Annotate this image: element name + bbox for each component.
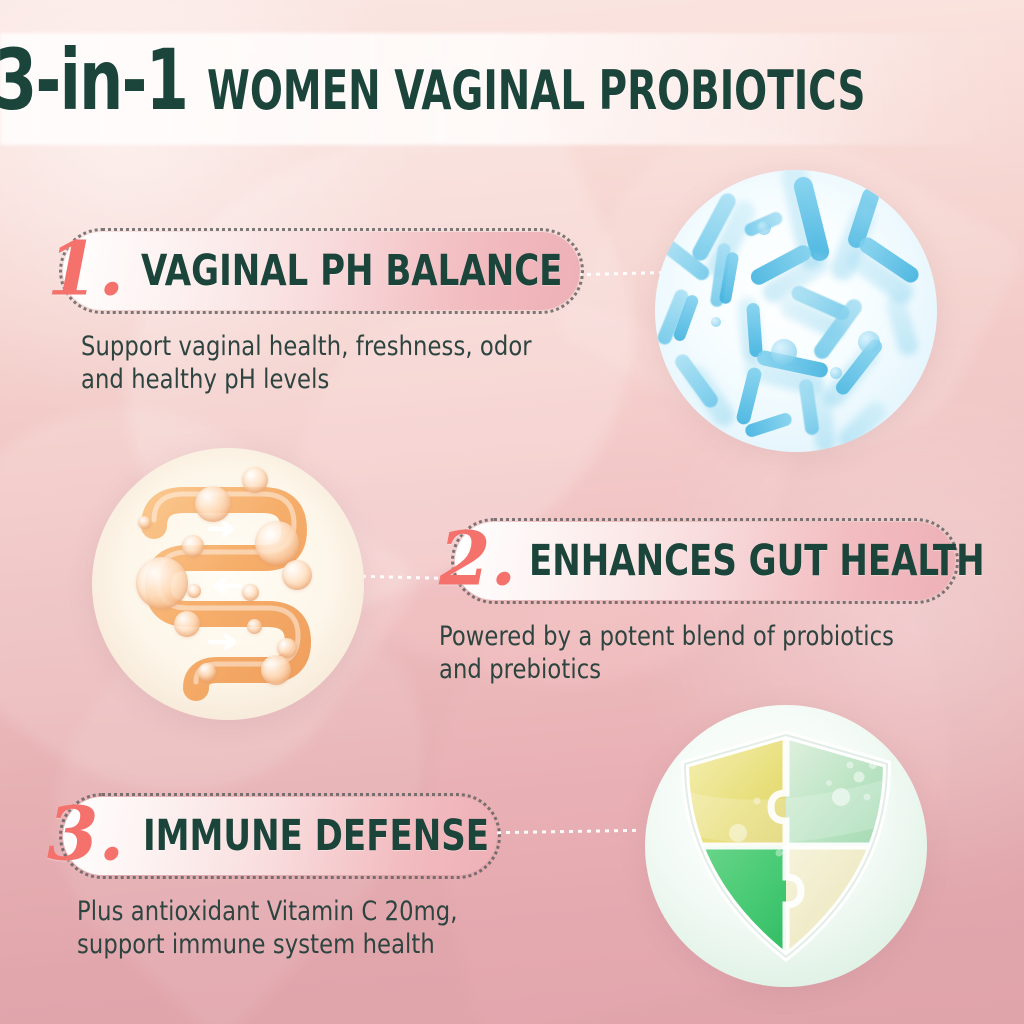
feature-3-number: 3. xyxy=(47,798,124,872)
gut-intestine-icon xyxy=(92,448,364,720)
feature-3-title: IMMUNE DEFENSE xyxy=(143,815,489,858)
feature-3: 3. IMMUNE DEFENSE Plus antioxidant Vitam… xyxy=(63,797,503,962)
feature-1-pill[interactable]: 1. VAGINAL PH BALANCE xyxy=(63,232,580,310)
feature-3-image-circle: Glossy shield made of four puzzle pieces… xyxy=(645,705,927,987)
feature-1-number: 1. xyxy=(47,233,124,307)
feature-1-image-circle: Blue rod-shaped probiotic bacteria under… xyxy=(655,170,937,452)
feature-2-number: 2. xyxy=(439,523,516,597)
feature-1: 1. VAGINAL PH BALANCE Support vaginal he… xyxy=(63,232,583,397)
feature-3-pill[interactable]: 3. IMMUNE DEFENSE xyxy=(63,797,497,875)
feature-3-description: Plus antioxidant Vitamin C 20mg, support… xyxy=(77,895,482,962)
feature-1-image-label: Blue rod-shaped probiotic bacteria under… xyxy=(655,170,656,171)
feature-1-description: Support vaginal health, freshness, odor … xyxy=(81,330,558,397)
product-infographic-poster: 3-in-1 WOMEN VAGINAL PROBIOTICS xyxy=(0,0,1024,1024)
immune-shield-icon xyxy=(645,705,927,987)
feature-2-image-circle: Orange winding intestine with probiotic … xyxy=(92,448,364,720)
feature-2-pill[interactable]: 2. ENHANCES GUT HEALTH xyxy=(455,522,955,600)
connector-line-feature-3 xyxy=(497,829,639,834)
page-title-highlight: 3-in-1 xyxy=(0,38,187,122)
feature-2: 2. ENHANCES GUT HEALTH Powered by a pote… xyxy=(455,522,965,687)
page-title-rest: WOMEN VAGINAL PROBIOTICS xyxy=(207,64,865,118)
feature-2-title: ENHANCES GUT HEALTH xyxy=(529,540,985,583)
feature-2-description: Powered by a potent blend of probiotics … xyxy=(439,620,939,687)
feature-1-title: VAGINAL PH BALANCE xyxy=(141,250,562,293)
header-title-row: 3-in-1 WOMEN VAGINAL PROBIOTICS xyxy=(0,38,1024,142)
